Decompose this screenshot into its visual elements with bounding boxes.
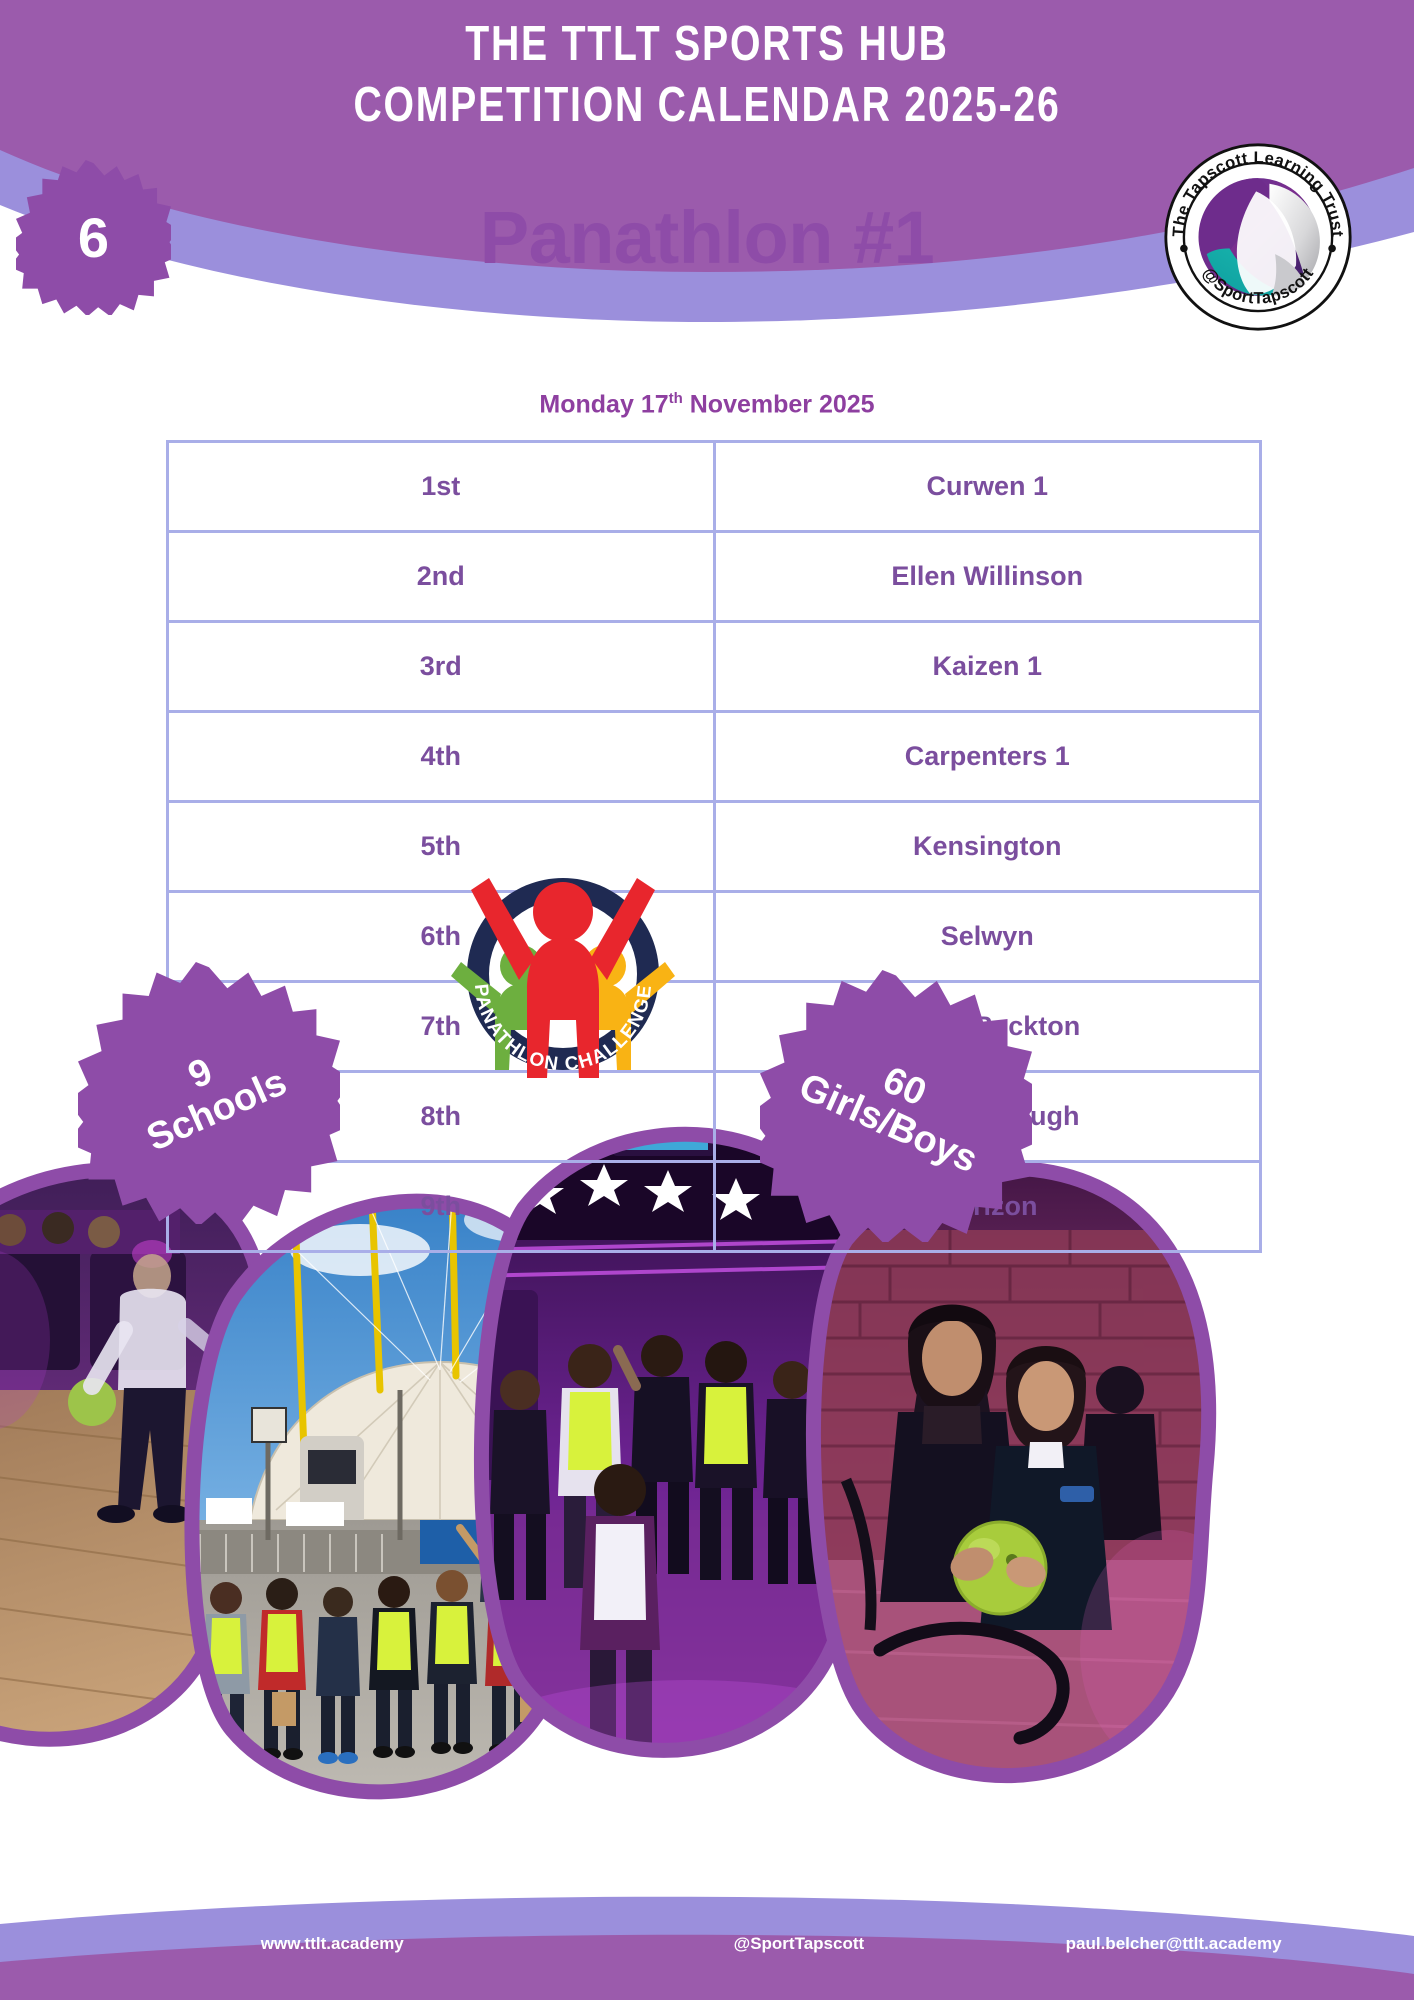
result-team: Selwyn — [714, 892, 1261, 982]
result-position: 2nd — [168, 532, 715, 622]
table-row: 5th Kensington — [168, 802, 1261, 892]
event-date-prefix: Monday 17 — [539, 390, 668, 418]
stat-unit: Schools — [141, 1063, 292, 1160]
trust-logo-icon: The Tapscott Learning Trust @SportTapsco… — [1163, 142, 1353, 332]
page-title: THE TTLT SPORTS HUB COMPETITION CALENDAR… — [141, 14, 1272, 136]
panathlon-logo-icon: PANATHLON CHALLENGE — [449, 834, 677, 1086]
edition-number: 6 — [16, 160, 171, 315]
result-position: 1st — [168, 442, 715, 532]
event-date-rest: November 2025 — [683, 390, 875, 418]
table-row: 3rd Kaizen 1 — [168, 622, 1261, 712]
stat-badge-schools: 9 Schools — [78, 962, 340, 1224]
footer-social-handle[interactable]: @SportTapscott — [665, 1934, 934, 1954]
table-row: 2nd Ellen Willinson — [168, 532, 1261, 622]
result-team: Kaizen 1 — [714, 622, 1261, 712]
edition-number-badge: 6 — [16, 160, 171, 315]
result-position: 3rd — [168, 622, 715, 712]
panathlon-challenge-logo: PANATHLON CHALLENGE — [449, 834, 677, 1086]
event-date: Monday 17th November 2025 — [0, 390, 1414, 419]
stat-badge-participants: 60 Girls/Boys — [760, 970, 1032, 1242]
table-row: 4th Carpenters 1 — [168, 712, 1261, 802]
table-row: 1st Curwen 1 — [168, 442, 1261, 532]
result-team: Carpenters 1 — [714, 712, 1261, 802]
event-date-ordinal: th — [669, 390, 683, 407]
header-line-1: THE TTLT SPORTS HUB — [141, 14, 1272, 75]
result-team: Ellen Willinson — [714, 532, 1261, 622]
tapscott-trust-logo: The Tapscott Learning Trust @SportTapsco… — [1163, 142, 1353, 332]
footer-banner: www.ttlt.academy @SportTapscott paul.bel… — [0, 1890, 1414, 2000]
header-line-2: COMPETITION CALENDAR 2025-26 — [141, 75, 1272, 136]
footer-website[interactable]: www.ttlt.academy — [0, 1934, 665, 1954]
footer-email[interactable]: paul.belcher@ttlt.academy — [933, 1934, 1414, 1954]
result-position: 4th — [168, 712, 715, 802]
result-team: Curwen 1 — [714, 442, 1261, 532]
footer-links: www.ttlt.academy @SportTapscott paul.bel… — [0, 1934, 1414, 1954]
result-team: Kensington — [714, 802, 1261, 892]
